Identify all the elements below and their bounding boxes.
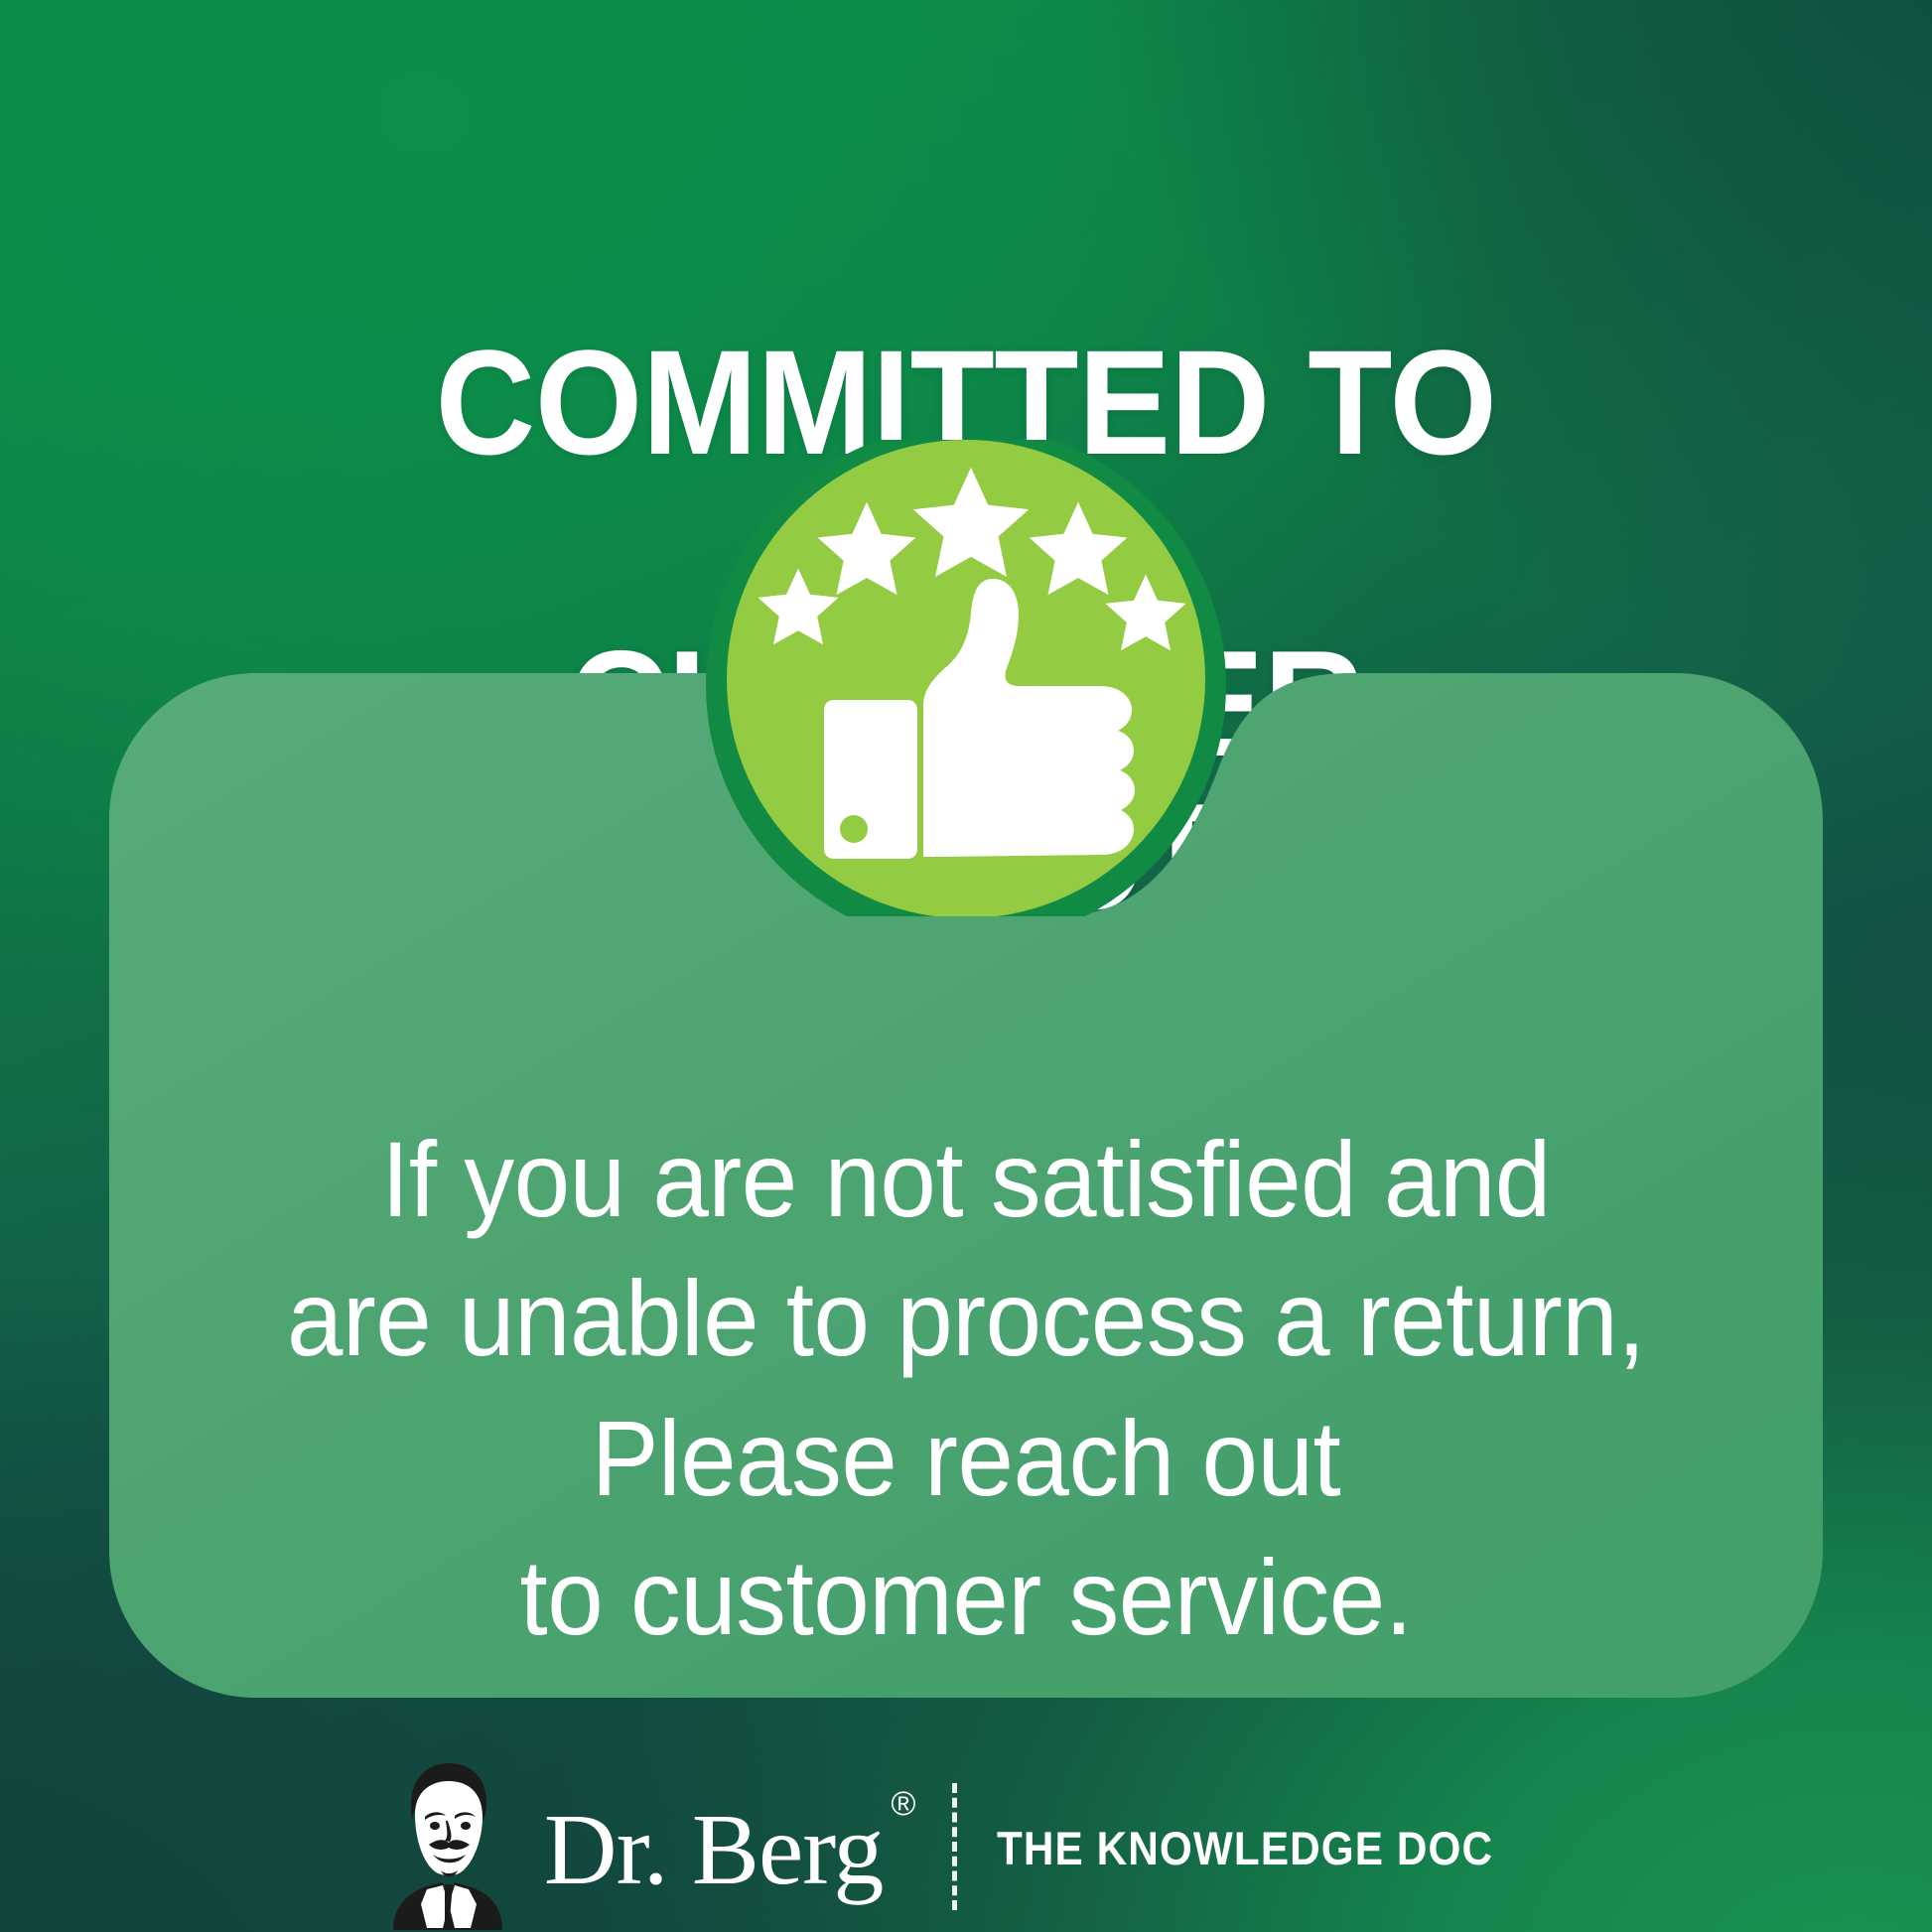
poster-canvas: COMMITTED TO CUSTOMER SATISFACTION [0, 0, 1932, 1932]
brand-tagline: THE KNOWLEDGE DOC [997, 1821, 1493, 1875]
brand-name: Dr. Berg® [544, 1800, 907, 1901]
brand-name-text: Dr. Berg [544, 1794, 883, 1906]
footer-brand-lockup: Dr. Berg® THE KNOWLEDGE DOC [0, 1755, 1932, 1932]
thumbs-up-five-stars-icon [604, 440, 1328, 916]
brand-divider [952, 1783, 957, 1910]
registered-trademark-icon: ® [891, 1785, 914, 1823]
dr-berg-portrait-icon [383, 1759, 510, 1930]
satisfaction-badge [604, 440, 1328, 916]
body-message: If you are not satisfied and are unable … [198, 1110, 1733, 1668]
